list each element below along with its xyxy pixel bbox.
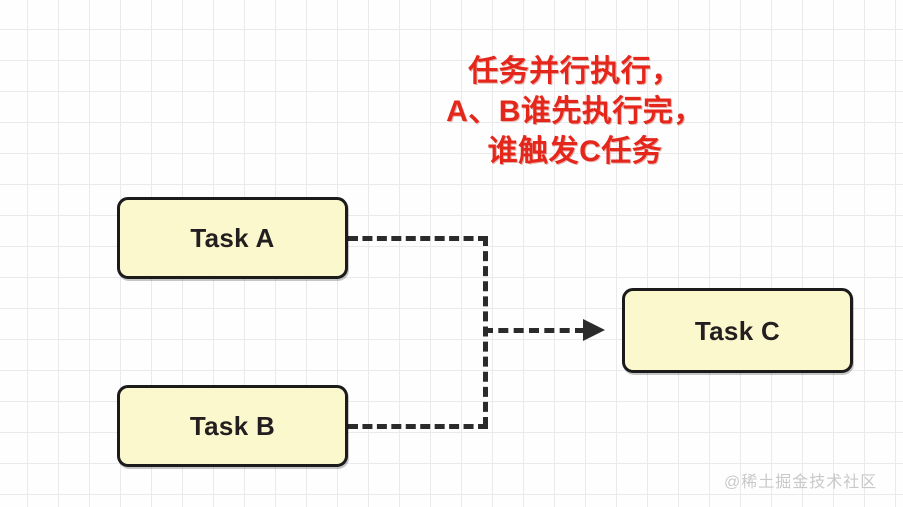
annotation-line-3: 谁触发C任务	[385, 132, 765, 172]
watermark: @稀土掘金技术社区	[724, 468, 877, 492]
node-task-c[interactable]: Task C	[622, 288, 853, 373]
arrowhead-icon	[583, 319, 605, 341]
node-task-c-label: Task C	[695, 318, 780, 344]
annotation-line-1: 任务并行执行，	[385, 52, 765, 92]
node-task-b[interactable]: Task B	[117, 385, 348, 467]
annotation-line-2: A、B谁先执行完，	[385, 92, 765, 132]
node-task-b-label: Task B	[190, 413, 275, 439]
annotation-text: 任务并行执行， A、B谁先执行完， 谁触发C任务	[385, 52, 765, 172]
node-task-a-label: Task A	[190, 225, 274, 251]
connector-task-b-horizontal	[348, 424, 488, 429]
node-task-a[interactable]: Task A	[117, 197, 348, 279]
connector-to-task-c-horizontal	[483, 328, 585, 333]
diagram-canvas: 任务并行执行， A、B谁先执行完， 谁触发C任务 Task A Task B T…	[0, 0, 903, 507]
connector-task-a-horizontal	[348, 236, 488, 241]
